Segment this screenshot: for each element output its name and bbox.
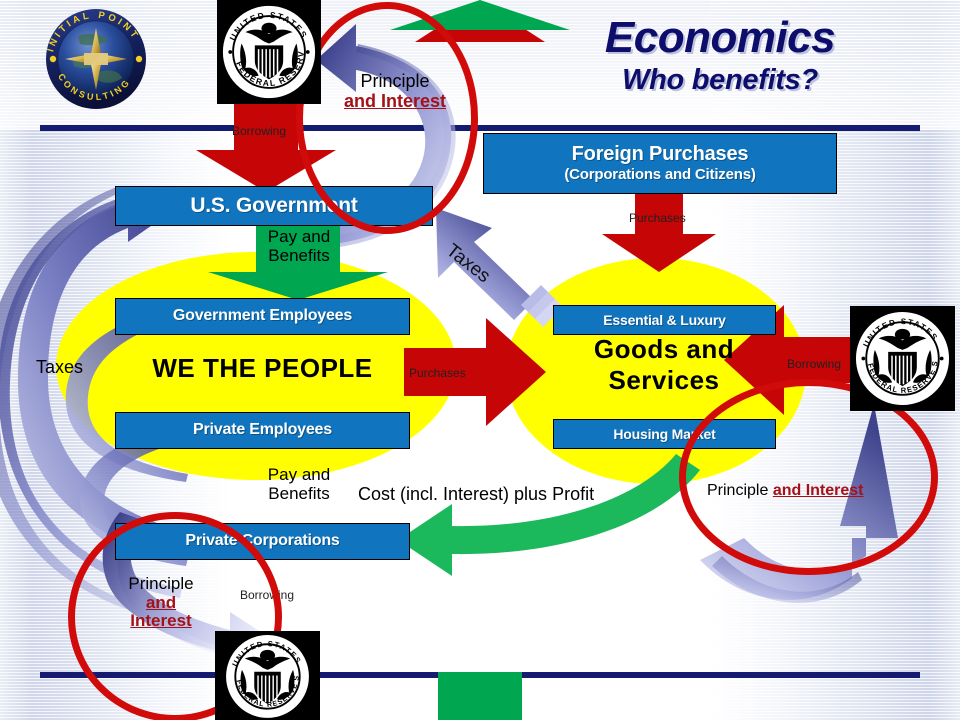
cost-plus-profit-label: Cost (incl. Interest) plus Profit	[358, 484, 594, 505]
foreign-purchases-title: Foreign Purchases	[572, 144, 749, 165]
principle-interest-top: Principle and Interest	[330, 72, 460, 112]
principle-interest-bottom-right: Principle and Interest	[707, 482, 912, 500]
pay-benefits-label-private: Pay and Benefits	[224, 466, 374, 503]
essential-luxury-box[interactable]: Essential & Luxury	[553, 305, 776, 335]
goods-and-services-label: Goods and Services	[548, 334, 780, 395]
federal-reserve-seal-bottom: UNITED STATES FEDERAL RESERVE SYSTEM	[215, 631, 320, 720]
taxes-label-diagonal: Taxes	[441, 240, 494, 288]
page-title: Economics	[520, 16, 920, 60]
federal-reserve-seal-right: UNITED STATES FEDERAL RESERVE SYSTEM	[850, 306, 955, 411]
pay-benefits-label-government: Pay and Benefits	[224, 228, 374, 265]
purchases-label-top: Purchases	[629, 211, 686, 225]
highlight-ellipse-top	[296, 2, 478, 234]
purchases-label-middle: Purchases	[409, 366, 466, 380]
taxes-label-left: Taxes	[36, 357, 83, 378]
borrowing-label-top: Borrowing	[232, 124, 286, 138]
foreign-purchases-box[interactable]: Foreign Purchases (Corporations and Citi…	[483, 133, 837, 194]
we-the-people-label: WE THE PEOPLE	[120, 353, 405, 384]
foreign-purchases-subtitle: (Corporations and Citizens)	[564, 167, 755, 183]
private-employees-box[interactable]: Private Employees	[115, 412, 410, 449]
principle-interest-bottom-left: Principle and Interest	[108, 575, 214, 631]
divider-line-top	[40, 125, 920, 131]
slide-canvas: Economics Who benefits?	[0, 0, 960, 720]
government-employees-box[interactable]: Government Employees	[115, 298, 410, 335]
initial-point-consulting-logo: INITIAL POINT CONSULTING	[26, 6, 166, 112]
page-subtitle: Who benefits?	[520, 64, 920, 97]
title-block: Economics Who benefits?	[520, 16, 920, 97]
borrowing-label-right: Borrowing	[787, 357, 841, 371]
purchases-arrow-top	[602, 192, 716, 272]
federal-reserve-seal-top: UNITED STATES FEDERAL RESERVE	[217, 0, 321, 104]
